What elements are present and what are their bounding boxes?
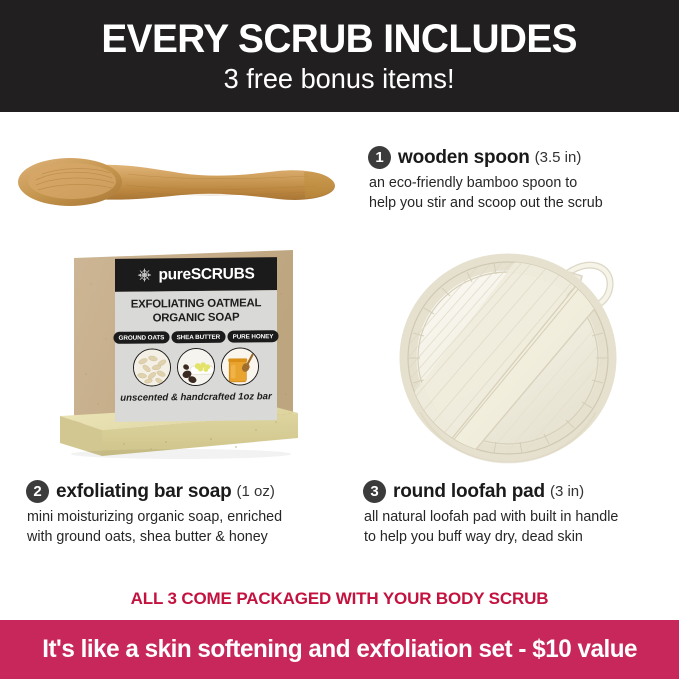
soap-label-body: EXFOLIATING OATMEAL ORGANIC SOAP GROUND …	[115, 290, 277, 422]
item-3-size: (3 in)	[550, 483, 584, 500]
packaging-tagline: ALL 3 COME PACKAGED WITH YOUR BODY SCRUB	[0, 589, 679, 609]
item-2-description-line2: with ground oats, shea butter & honey	[27, 529, 268, 545]
item-2-heading: 2 exfoliating bar soap (1 oz)	[26, 480, 341, 503]
item-3-title: round loofah pad	[393, 481, 545, 503]
item-3-description: all natural loofah pad with built in han…	[364, 507, 675, 548]
item-1-number-badge: 1	[368, 146, 391, 169]
item-2-size: (1 oz)	[236, 483, 274, 500]
item-3-description-line2: to help you buff way dry, dead skin	[364, 529, 583, 545]
soap-brand-bar: pureSCRUBS	[115, 257, 277, 292]
page-subtitle: 3 free bonus items!	[224, 64, 455, 93]
item-1-size: (3.5 in)	[535, 149, 582, 166]
shea-butter-photo	[177, 348, 215, 386]
soap-label-footer: unscented & handcrafted 1oz bar	[120, 391, 271, 404]
value-banner: It's like a skin softening and exfoliati…	[0, 620, 679, 679]
soap-product-name: EXFOLIATING OATMEAL ORGANIC SOAP	[131, 296, 262, 325]
ingredient-image-row	[133, 348, 259, 387]
pure-honey-photo	[221, 348, 259, 386]
item-3-heading: 3 round loofah pad (3 in)	[363, 480, 675, 503]
item-2-description: mini moisturizing organic soap, enriched…	[27, 507, 341, 548]
ground-oats-photo	[133, 348, 171, 386]
item-1-heading: 1 wooden spoon (3.5 in)	[368, 146, 673, 169]
ingredient-pill-honey: PURE HONEY	[227, 330, 278, 343]
item-2-description-line1: mini moisturizing organic soap, enriched	[27, 509, 282, 525]
item-1-description-line2: help you stir and scoop out the scrub	[369, 195, 603, 211]
snowflake-ornament-icon	[137, 267, 152, 282]
ingredient-pill-oats: GROUND OATS	[114, 331, 170, 344]
item-1-description: an eco-friendly bamboo spoon to help you…	[369, 173, 673, 214]
item-3-number-badge: 3	[363, 480, 386, 503]
bamboo-spoon-photo	[8, 140, 353, 220]
item-1-description-line1: an eco-friendly bamboo spoon to	[369, 175, 577, 191]
page-title: EVERY SCRUB INCLUDES	[102, 19, 578, 60]
loofah-pad-photo	[396, 232, 632, 468]
soap-brand-name: pureSCRUBS	[158, 265, 254, 284]
soap-label: pureSCRUBS EXFOLIATING OATMEAL ORGANIC S…	[115, 257, 277, 422]
header-banner: EVERY SCRUB INCLUDES 3 free bonus items!	[0, 0, 679, 112]
ingredient-pill-shea: SHEA BUTTER	[172, 331, 226, 344]
ingredient-pill-row: GROUND OATS SHEA BUTTER PURE HONEY	[114, 330, 277, 344]
item-3-description-line1: all natural loofah pad with built in han…	[364, 509, 618, 525]
item-3-block: 3 round loofah pad (3 in) all natural lo…	[363, 480, 675, 548]
item-1-block: 1 wooden spoon (3.5 in) an eco-friendly …	[368, 146, 673, 214]
item-1-title: wooden spoon	[398, 147, 530, 169]
item-2-title: exfoliating bar soap	[56, 481, 231, 503]
item-2-block: 2 exfoliating bar soap (1 oz) mini moist…	[26, 480, 341, 548]
soap-product-line1: EXFOLIATING OATMEAL	[131, 297, 262, 310]
soap-product-line2: ORGANIC SOAP	[153, 312, 240, 325]
value-banner-text: It's like a skin softening and exfoliati…	[42, 635, 637, 664]
item-2-number-badge: 2	[26, 480, 49, 503]
bar-soap-photo: pureSCRUBS EXFOLIATING OATMEAL ORGANIC S…	[46, 244, 311, 459]
